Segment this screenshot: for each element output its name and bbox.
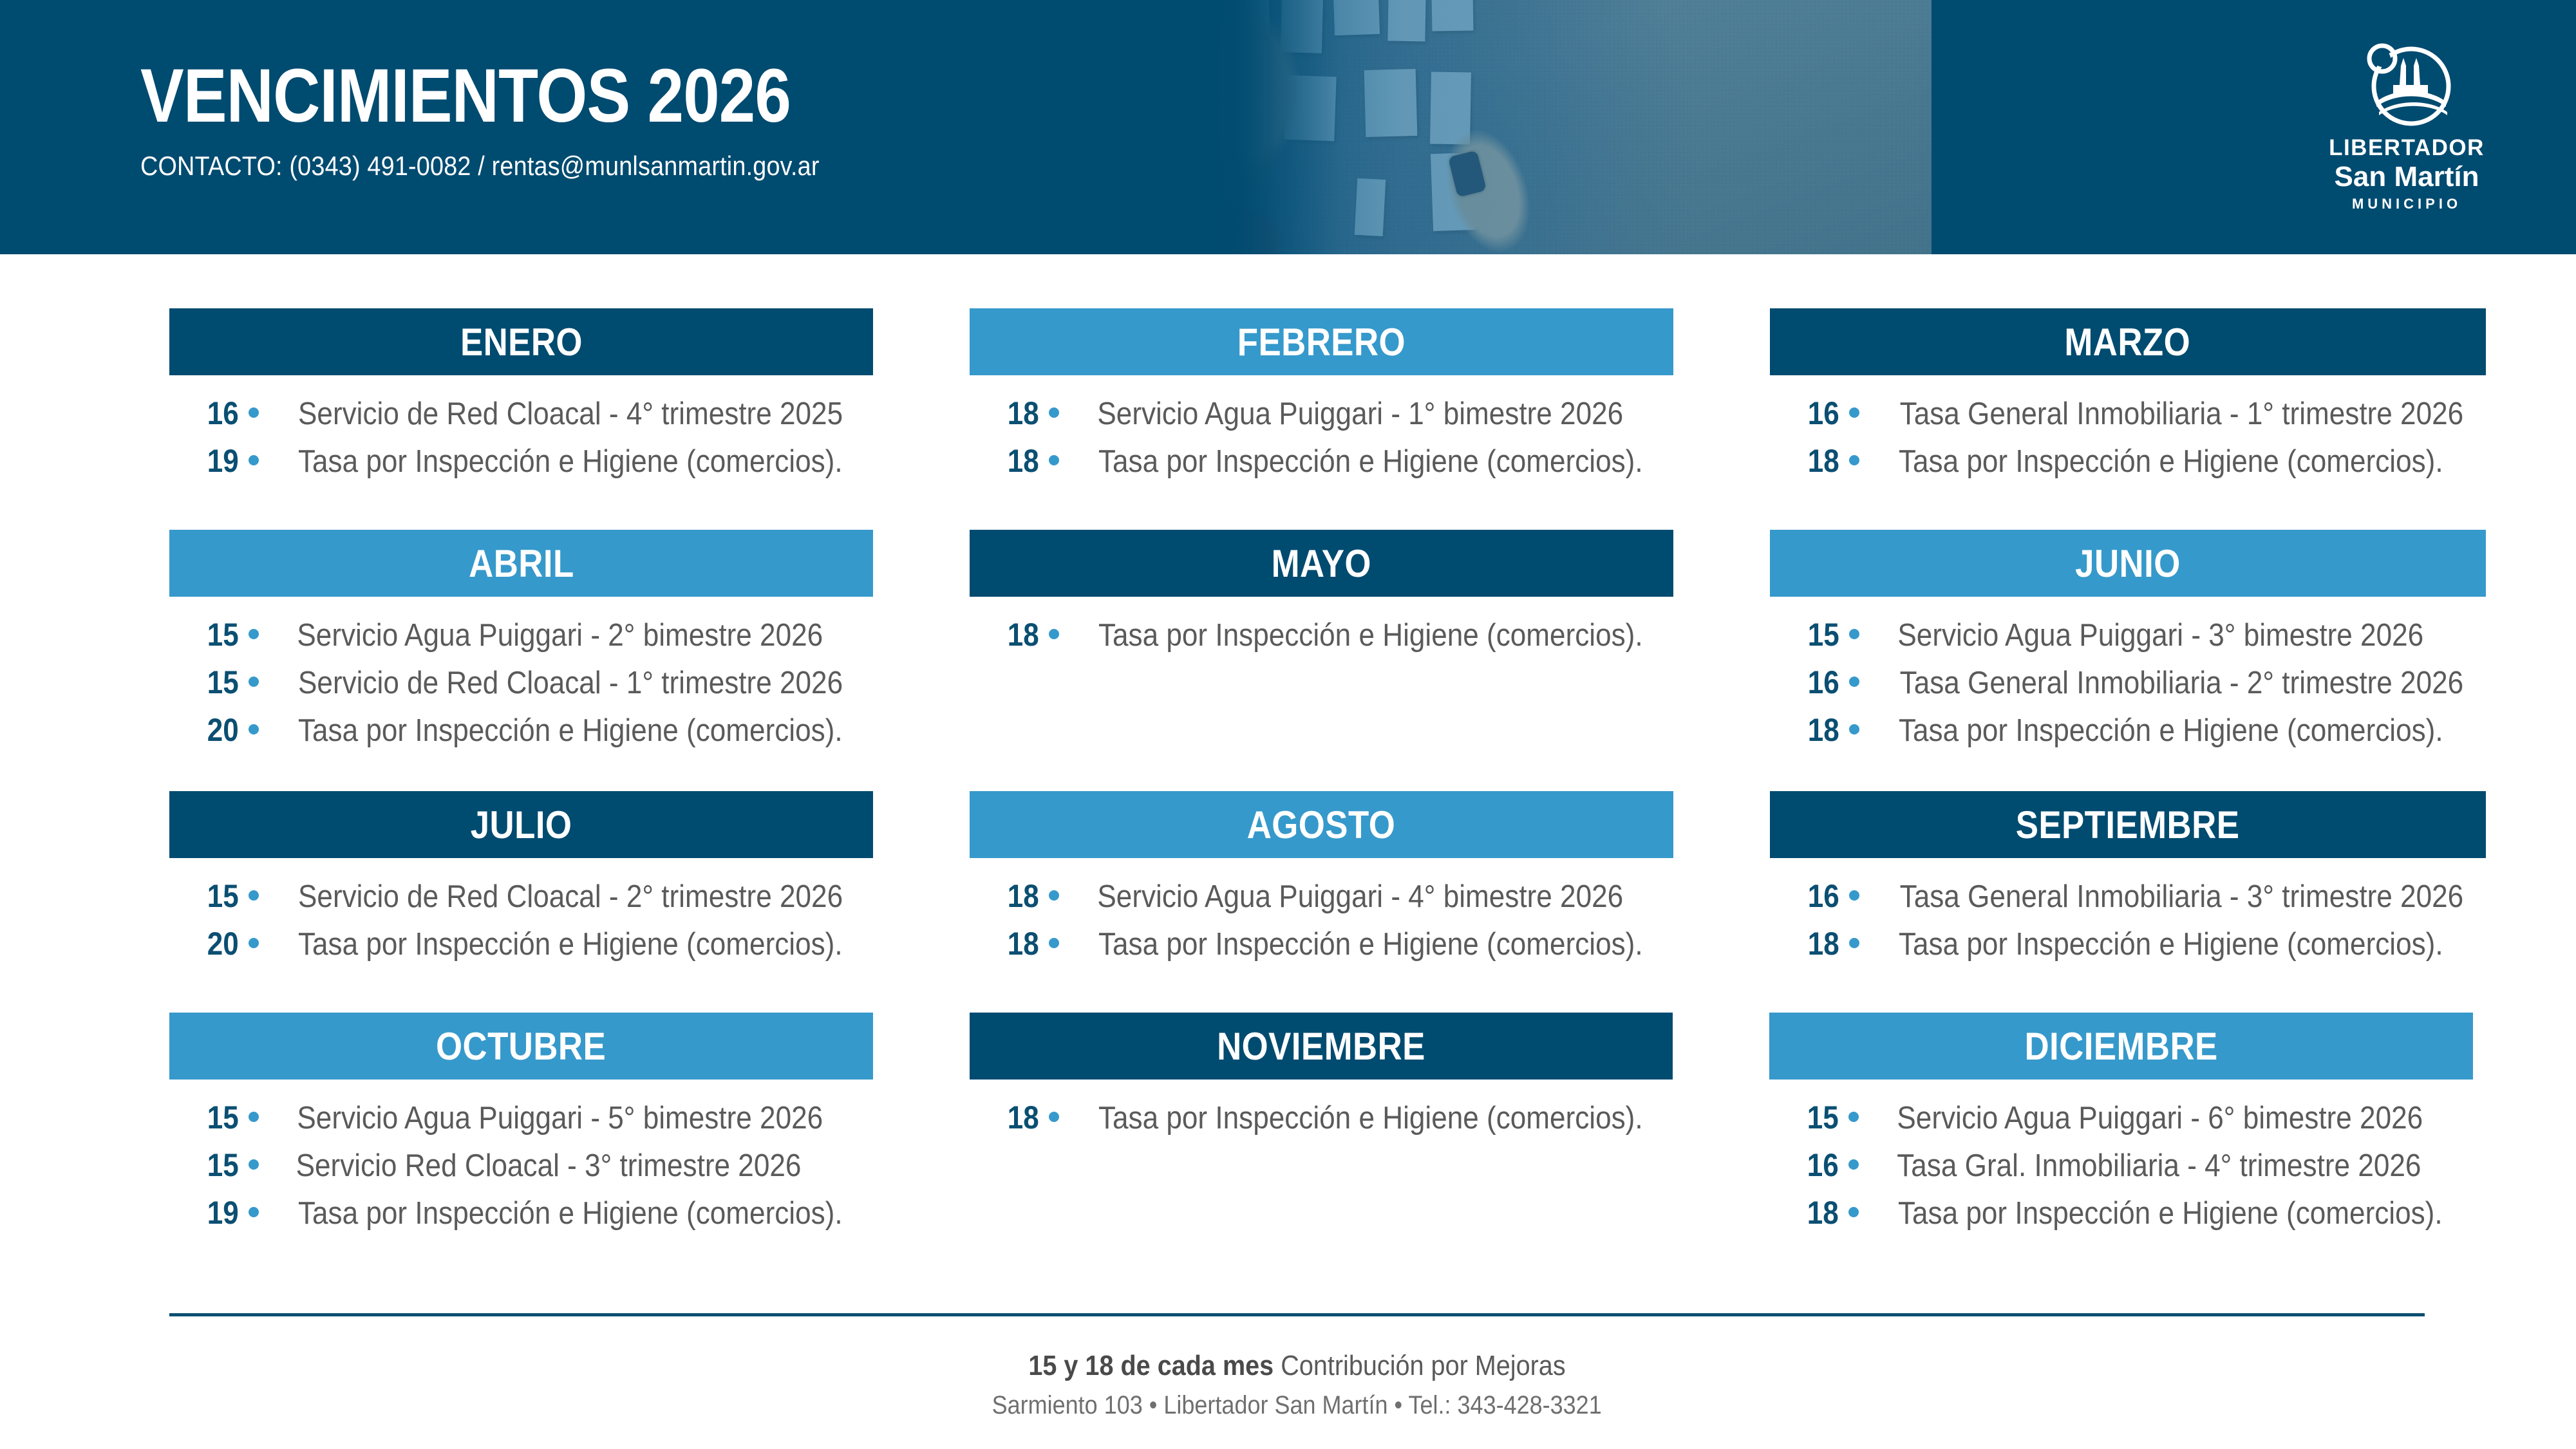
months-grid: ENERO 16 Servicio de Red Cloacal - 4° tr… — [0, 254, 2576, 1242]
month-card-mayo[interactable]: MAYO 18 Tasa por Inspección e Higiene (c… — [970, 530, 1673, 759]
month-card-enero[interactable]: ENERO 16 Servicio de Red Cloacal - 4° tr… — [169, 308, 873, 490]
entry-day: 15 — [1807, 1099, 1843, 1136]
entry-day: 16 — [1807, 395, 1843, 432]
entry-day: 18 — [1807, 925, 1843, 962]
logo-wordmark: LIBERTADOR San Martín MUNICIPIO — [2313, 136, 2500, 212]
entry-day: 15 — [207, 1099, 243, 1136]
month-card-header: DICIEMBRE — [1769, 1013, 2473, 1080]
entry-description: Tasa Gral. Inmobiliaria - 4° trimestre 2… — [1897, 1148, 2421, 1184]
entry-description: Tasa por Inspección e Higiene (comercios… — [1098, 617, 1643, 653]
entry-day: 18 — [1008, 442, 1043, 480]
bullet-dot-icon — [249, 1207, 259, 1217]
entry-description: Tasa General Inmobiliaria - 1° trimestre… — [1899, 396, 2463, 432]
month-entry: 20 Tasa por Inspección e Higiene (comerc… — [205, 925, 873, 962]
months-row-3: JULIO 15 Servicio de Red Cloacal - 2° tr… — [169, 791, 2425, 973]
month-entry: 16 Servicio de Red Cloacal - 4° trimestr… — [205, 395, 873, 432]
footer-text-block: 15 y 18 de cada mes Contribución por Mej… — [169, 1350, 2425, 1420]
bullet-dot-icon — [1049, 629, 1059, 639]
logo-line-municipio: MUNICIPIO — [2313, 196, 2500, 212]
month-card-header: OCTUBRE — [169, 1013, 873, 1080]
footer-note: 15 y 18 de cada mes Contribución por Mej… — [1028, 1350, 1565, 1382]
month-card-agosto[interactable]: AGOSTO 18 Servicio Agua Puiggari - 4° bi… — [970, 791, 1673, 973]
bullet-dot-icon — [249, 724, 259, 734]
month-entry: 18 Servicio Agua Puiggari - 1° bimestre … — [1005, 395, 1673, 432]
entry-day: 15 — [207, 664, 243, 701]
bullet-dot-icon — [1849, 724, 1859, 734]
month-name: ENERO — [460, 320, 583, 364]
month-entry: 15 Servicio Agua Puiggari - 3° bimestre … — [1805, 616, 2486, 653]
month-entry: 15 Servicio Agua Puiggari - 6° bimestre … — [1805, 1099, 2473, 1136]
month-entry: 18 Tasa por Inspección e Higiene (comerc… — [1005, 1099, 1673, 1136]
month-card-header: ENERO — [169, 308, 873, 375]
month-entry: 18 Tasa por Inspección e Higiene (comerc… — [1805, 442, 2486, 480]
entry-day: 15 — [207, 616, 243, 653]
month-entry: 18 Tasa por Inspección e Higiene (comerc… — [1805, 711, 2486, 749]
month-card-header: ABRIL — [169, 530, 873, 597]
entry-description: Tasa por Inspección e Higiene (comercios… — [1899, 713, 2443, 749]
footer-divider — [169, 1313, 2425, 1316]
entry-day: 20 — [207, 711, 243, 749]
bullet-dot-icon — [1849, 677, 1859, 687]
entry-description: Servicio Agua Puiggari - 4° bimestre 202… — [1098, 879, 1624, 915]
entry-day: 16 — [1807, 1146, 1843, 1184]
bullet-dot-icon — [1049, 890, 1059, 901]
page-title: VENCIMIENTOS 2026 — [140, 58, 791, 134]
bullet-dot-icon — [249, 629, 259, 639]
entry-description: Servicio Agua Puiggari - 5° bimestre 202… — [297, 1100, 823, 1136]
entry-description: Servicio de Red Cloacal - 2° trimestre 2… — [298, 879, 843, 915]
entry-day: 15 — [207, 1146, 243, 1184]
month-entry: 16 Tasa General Inmobiliaria - 1° trimes… — [1805, 395, 2486, 432]
month-card-marzo[interactable]: MARZO 16 Tasa General Inmobiliaria - 1° … — [1770, 308, 2486, 490]
month-name: SEPTIEMBRE — [2016, 803, 2240, 847]
month-entries: 15 Servicio Agua Puiggari - 5° bimestre … — [169, 1080, 873, 1231]
month-entry: 18 Tasa por Inspección e Higiene (comerc… — [1805, 925, 2486, 962]
entry-day: 18 — [1008, 925, 1043, 962]
month-card-header: MAYO — [970, 530, 1673, 597]
entry-day: 18 — [1807, 442, 1843, 480]
month-card-junio[interactable]: JUNIO 15 Servicio Agua Puiggari - 3° bim… — [1770, 530, 2486, 759]
bullet-dot-icon — [249, 1112, 259, 1122]
bullet-dot-icon — [1849, 455, 1859, 465]
entry-day: 18 — [1807, 711, 1843, 749]
footer-note-bold: 15 y 18 de cada mes — [1028, 1350, 1274, 1381]
month-card-noviembre[interactable]: NOVIEMBRE 18 Tasa por Inspección e Higie… — [970, 1013, 1673, 1242]
month-card-septiembre[interactable]: SEPTIEMBRE 16 Tasa General Inmobiliaria … — [1770, 791, 2486, 973]
month-entries: 18 Servicio Agua Puiggari - 1° bimestre … — [970, 375, 1673, 480]
bullet-dot-icon — [249, 677, 259, 687]
municipality-logo: LIBERTADOR San Martín MUNICIPIO — [2313, 40, 2500, 214]
month-card-header: FEBRERO — [970, 308, 1673, 375]
month-entry: 16 Tasa Gral. Inmobiliaria - 4° trimestr… — [1805, 1146, 2473, 1184]
bullet-dot-icon — [249, 1159, 259, 1170]
month-entry: 19 Tasa por Inspección e Higiene (comerc… — [205, 1194, 873, 1231]
month-name: OCTUBRE — [436, 1024, 606, 1069]
entry-description: Tasa por Inspección e Higiene (comercios… — [298, 1195, 843, 1231]
month-entry: 15 Servicio Agua Puiggari - 5° bimestre … — [205, 1099, 873, 1136]
bullet-dot-icon — [249, 890, 259, 901]
month-card-header: JULIO — [169, 791, 873, 858]
entry-description: Servicio de Red Cloacal - 4° trimestre 2… — [298, 396, 843, 432]
month-entries: 18 Tasa por Inspección e Higiene (comerc… — [970, 597, 1673, 653]
month-entry: 18 Tasa por Inspección e Higiene (comerc… — [1005, 616, 1673, 653]
month-card-header: SEPTIEMBRE — [1770, 791, 2486, 858]
contact-info: CONTACTO: (0343) 491-0082 / rentas@munls… — [140, 151, 821, 182]
entry-description: Tasa General Inmobiliaria - 2° trimestre… — [1899, 665, 2463, 701]
entry-day: 18 — [1008, 395, 1043, 432]
entry-description: Tasa por Inspección e Higiene (comercios… — [1098, 1100, 1643, 1136]
month-entry: 19 Tasa por Inspección e Higiene (comerc… — [205, 442, 873, 480]
footer-address: Sarmiento 103 • Libertador San Martín • … — [992, 1391, 1602, 1420]
month-entry: 18 Tasa por Inspección e Higiene (comerc… — [1805, 1194, 2473, 1231]
entry-description: Tasa General Inmobiliaria - 3° trimestre… — [1899, 879, 2463, 915]
month-name: ABRIL — [469, 541, 574, 586]
month-entry: 15 Servicio Agua Puiggari - 2° bimestre … — [205, 616, 873, 653]
month-card-header: JUNIO — [1770, 530, 2486, 597]
entry-description: Tasa por Inspección e Higiene (comercios… — [1098, 926, 1643, 962]
month-entries: 15 Servicio Agua Puiggari - 2° bimestre … — [169, 597, 873, 749]
entry-description: Servicio Agua Puiggari - 2° bimestre 202… — [297, 617, 823, 653]
bullet-dot-icon — [249, 407, 259, 418]
bullet-dot-icon — [1848, 1159, 1859, 1170]
entry-day: 16 — [207, 395, 243, 432]
month-card-header: AGOSTO — [970, 791, 1673, 858]
month-entry: 15 Servicio de Red Cloacal - 1° trimestr… — [205, 664, 873, 701]
entry-description: Servicio Agua Puiggari - 6° bimestre 202… — [1897, 1100, 2423, 1136]
months-row-4: OCTUBRE 15 Servicio Agua Puiggari - 5° b… — [169, 1013, 2425, 1242]
month-entries: 15 Servicio Agua Puiggari - 6° bimestre … — [1769, 1080, 2473, 1231]
bullet-dot-icon — [1849, 938, 1859, 948]
entry-description: Servicio Red Cloacal - 3° trimestre 2026 — [296, 1148, 802, 1184]
month-entries: 18 Tasa por Inspección e Higiene (comerc… — [970, 1080, 1673, 1136]
entry-day: 20 — [207, 925, 243, 962]
month-card-header: NOVIEMBRE — [970, 1013, 1673, 1080]
bullet-dot-icon — [1849, 890, 1859, 901]
entry-day: 18 — [1008, 877, 1043, 915]
entry-day: 19 — [207, 1194, 243, 1231]
entry-description: Tasa por Inspección e Higiene (comercios… — [298, 444, 843, 480]
bullet-dot-icon — [249, 938, 259, 948]
entry-day: 16 — [1807, 664, 1843, 701]
months-row-2: ABRIL 15 Servicio Agua Puiggari - 2° bim… — [169, 530, 2425, 759]
month-entries: 16 Tasa General Inmobiliaria - 3° trimes… — [1770, 858, 2486, 962]
month-card-febrero[interactable]: FEBRERO 18 Servicio Agua Puiggari - 1° b… — [970, 308, 1673, 490]
month-name: MARZO — [2065, 320, 2191, 364]
bullet-dot-icon — [1049, 938, 1059, 948]
month-card-octubre[interactable]: OCTUBRE 15 Servicio Agua Puiggari - 5° b… — [169, 1013, 873, 1242]
month-entry: 16 Tasa General Inmobiliaria - 3° trimes… — [1805, 877, 2486, 915]
bullet-dot-icon — [1849, 407, 1859, 418]
month-card-diciembre[interactable]: DICIEMBRE 15 Servicio Agua Puiggari - 6°… — [1769, 1013, 2473, 1242]
month-card-header: MARZO — [1770, 308, 2486, 375]
photo-left-fade — [1172, 0, 1339, 254]
bullet-dot-icon — [1848, 1207, 1859, 1217]
logo-emblem-icon — [2364, 40, 2454, 130]
month-card-julio[interactable]: JULIO 15 Servicio de Red Cloacal - 2° tr… — [169, 791, 873, 973]
bullet-dot-icon — [249, 455, 259, 465]
entry-day: 18 — [1008, 616, 1043, 653]
month-name: FEBRERO — [1237, 320, 1406, 364]
entry-day: 18 — [1007, 1099, 1042, 1136]
entry-description: Tasa por Inspección e Higiene (comercios… — [1899, 444, 2443, 480]
header-photo — [1172, 0, 1932, 254]
month-entry: 16 Tasa General Inmobiliaria - 2° trimes… — [1805, 664, 2486, 701]
entry-description: Tasa por Inspección e Higiene (comercios… — [1098, 444, 1643, 480]
bullet-dot-icon — [1049, 1112, 1059, 1122]
entry-day: 18 — [1807, 1194, 1843, 1231]
months-row-1: ENERO 16 Servicio de Red Cloacal - 4° tr… — [169, 308, 2425, 490]
entry-description: Servicio Agua Puiggari - 1° bimestre 202… — [1098, 396, 1624, 432]
month-name: JUNIO — [2075, 541, 2181, 586]
footer-note-rest: Contribución por Mejoras — [1274, 1350, 1565, 1381]
logo-line-san-martin: San Martín — [2313, 162, 2500, 192]
entry-description: Tasa por Inspección e Higiene (comercios… — [298, 713, 843, 749]
month-name: AGOSTO — [1247, 803, 1396, 847]
month-entries: 16 Servicio de Red Cloacal - 4° trimestr… — [169, 375, 873, 480]
bullet-dot-icon — [1049, 455, 1059, 465]
month-entries: 15 Servicio Agua Puiggari - 3° bimestre … — [1770, 597, 2486, 749]
month-card-abril[interactable]: ABRIL 15 Servicio Agua Puiggari - 2° bim… — [169, 530, 873, 759]
header-title-block: VENCIMIENTOS 2026 CONTACTO: (0343) 491-0… — [140, 58, 896, 182]
month-entry: 18 Tasa por Inspección e Higiene (comerc… — [1005, 925, 1673, 962]
month-name: DICIEMBRE — [2024, 1024, 2217, 1069]
bullet-dot-icon — [1849, 629, 1859, 639]
entry-day: 16 — [1807, 877, 1843, 915]
month-entries: 15 Servicio de Red Cloacal - 2° trimestr… — [169, 858, 873, 962]
month-name: MAYO — [1272, 541, 1371, 586]
month-entries: 18 Servicio Agua Puiggari - 4° bimestre … — [970, 858, 1673, 962]
bullet-dot-icon — [1848, 1112, 1859, 1122]
entry-day: 15 — [1807, 616, 1843, 653]
entry-day: 19 — [207, 442, 243, 480]
month-entry: 20 Tasa por Inspección e Higiene (comerc… — [205, 711, 873, 749]
page-header: VENCIMIENTOS 2026 CONTACTO: (0343) 491-0… — [0, 0, 2576, 254]
entry-description: Servicio de Red Cloacal - 1° trimestre 2… — [298, 665, 843, 701]
entry-description: Tasa por Inspección e Higiene (comercios… — [1898, 1195, 2443, 1231]
month-name: NOVIEMBRE — [1217, 1024, 1425, 1069]
entry-day: 15 — [207, 877, 243, 915]
entry-description: Tasa por Inspección e Higiene (comercios… — [298, 926, 843, 962]
month-entry: 15 Servicio de Red Cloacal - 2° trimestr… — [205, 877, 873, 915]
month-entries: 16 Tasa General Inmobiliaria - 1° trimes… — [1770, 375, 2486, 480]
page-footer: 15 y 18 de cada mes Contribución por Mej… — [169, 1313, 2425, 1420]
month-entry: 18 Tasa por Inspección e Higiene (comerc… — [1005, 442, 1673, 480]
entry-description: Servicio Agua Puiggari - 3° bimestre 202… — [1897, 617, 2423, 653]
month-name: JULIO — [471, 803, 572, 847]
entry-description: Tasa por Inspección e Higiene (comercios… — [1899, 926, 2443, 962]
month-entry: 15 Servicio Red Cloacal - 3° trimestre 2… — [205, 1146, 873, 1184]
logo-line-libertador: LIBERTADOR — [2313, 136, 2500, 160]
bullet-dot-icon — [1049, 407, 1059, 418]
month-entry: 18 Servicio Agua Puiggari - 4° bimestre … — [1005, 877, 1673, 915]
